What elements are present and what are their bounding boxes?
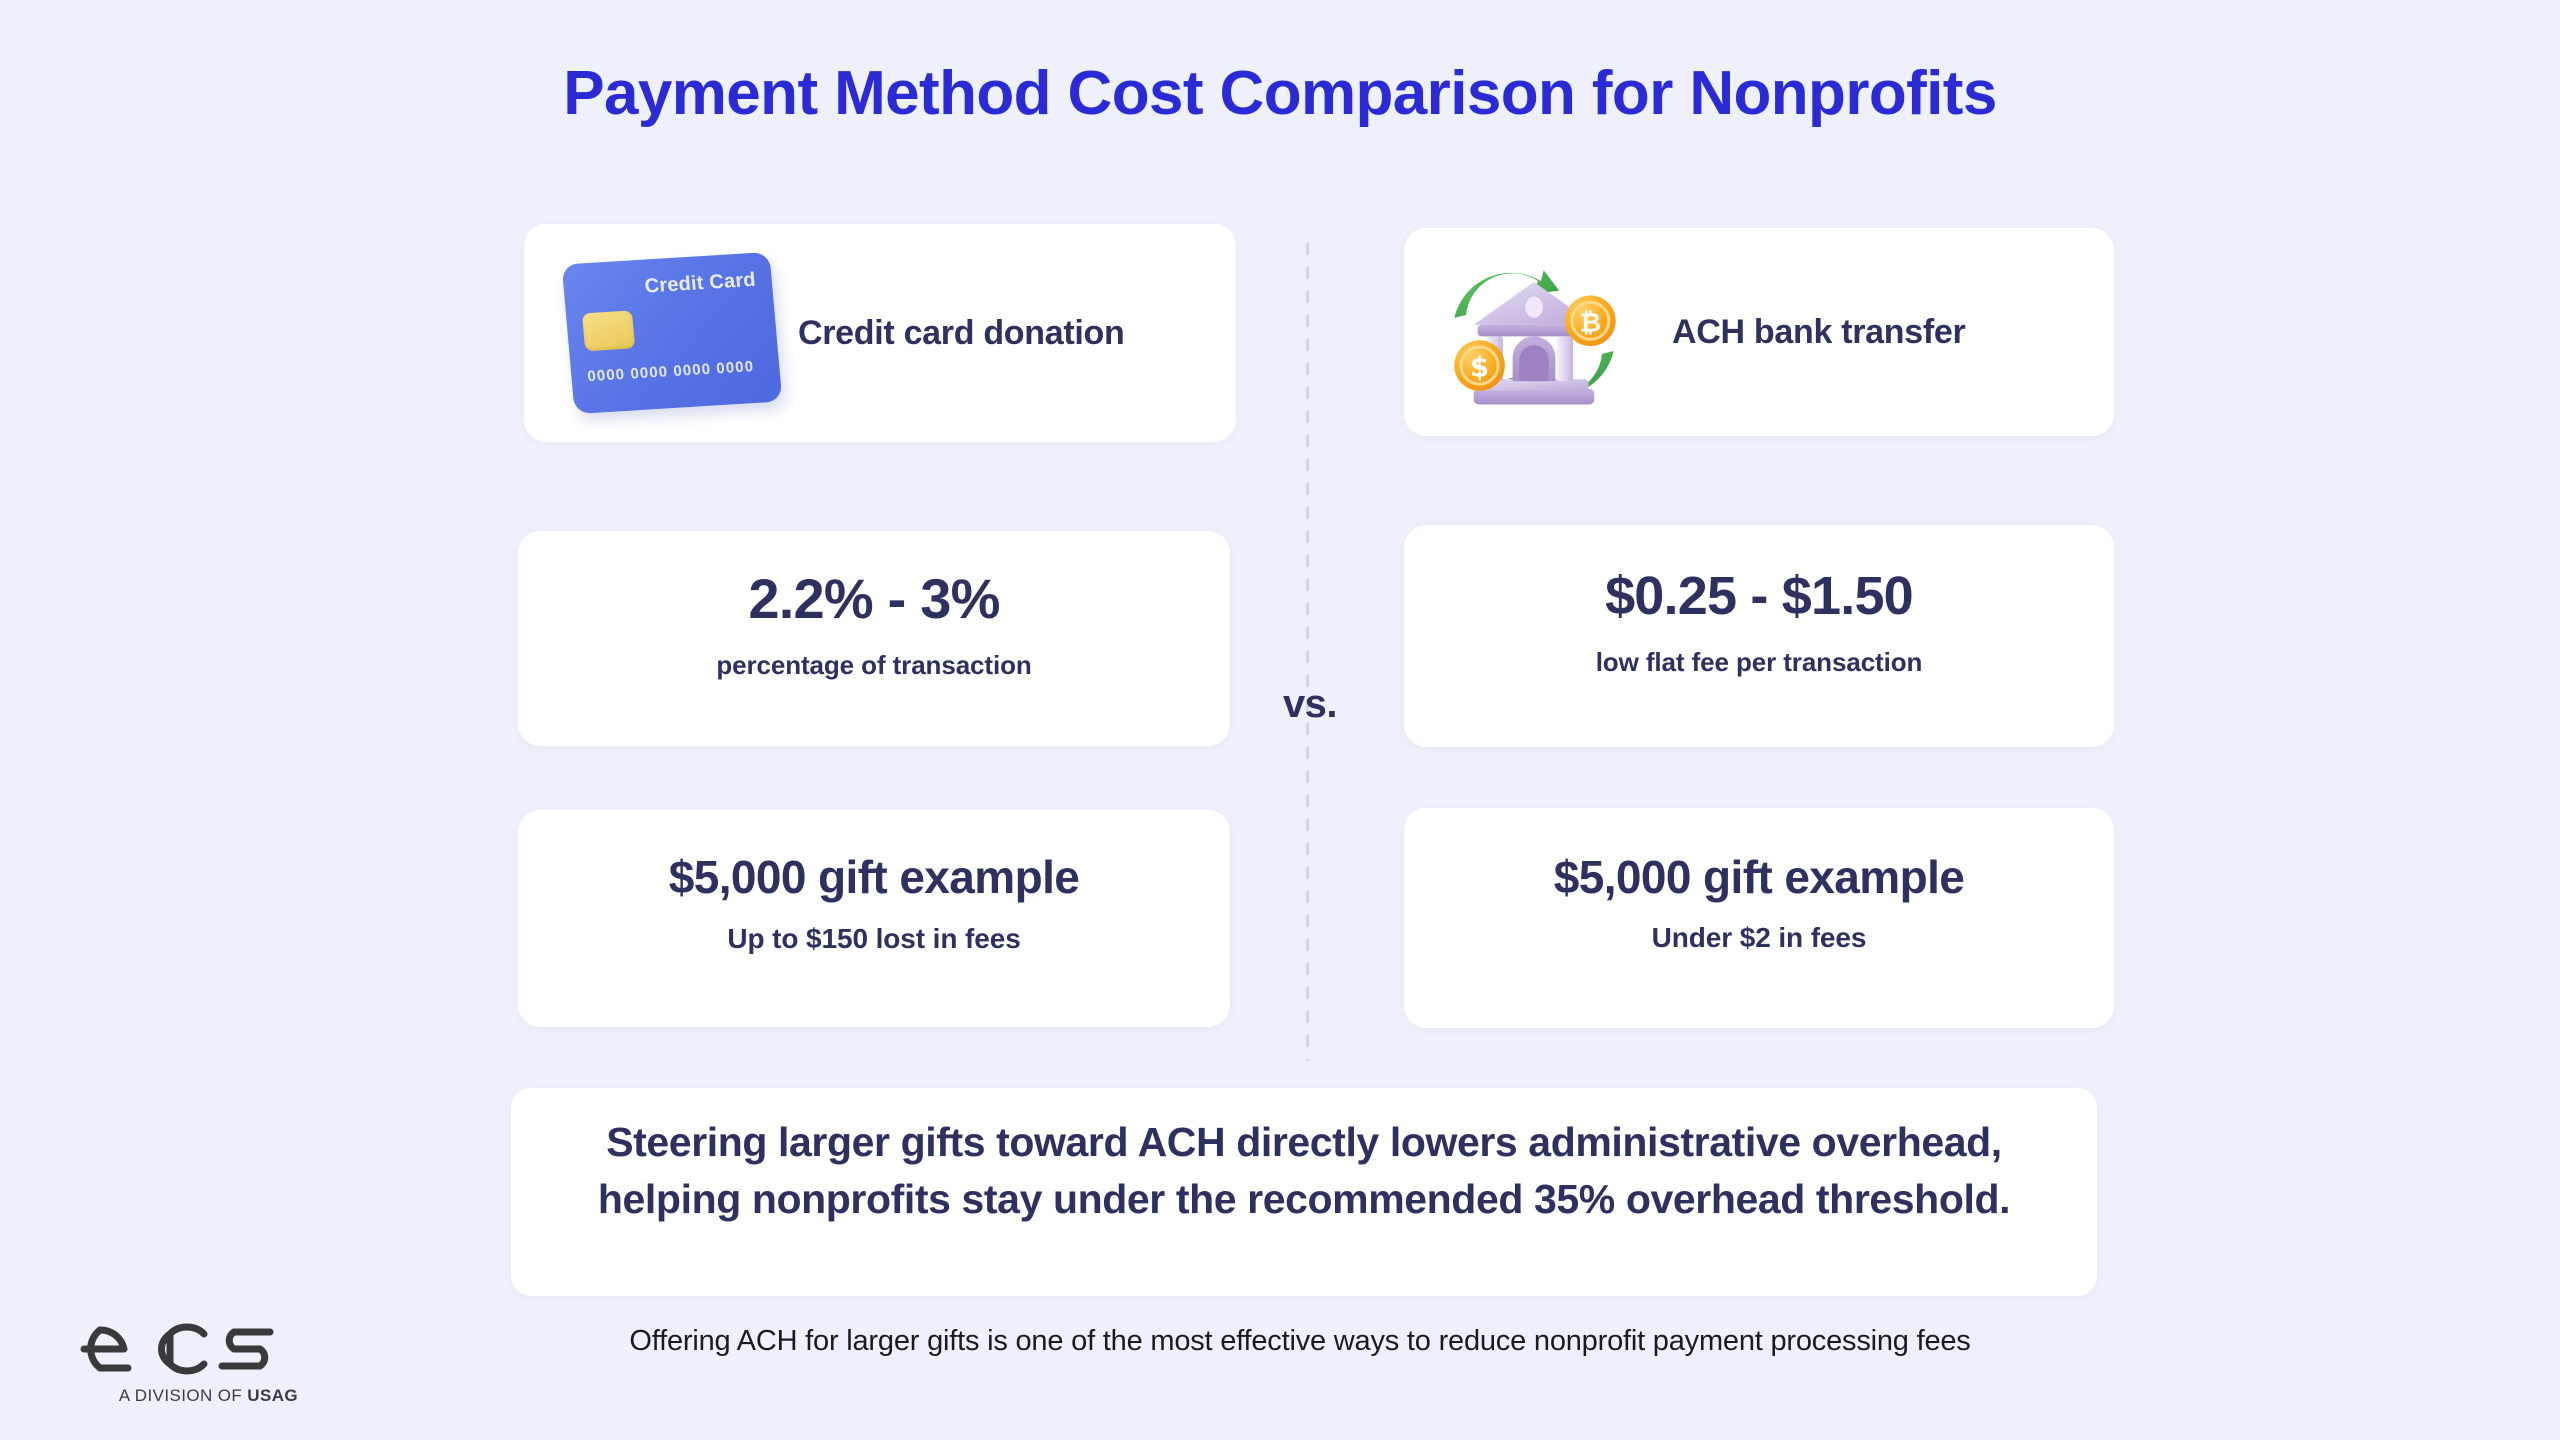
left-example-title: $5,000 gift example (669, 852, 1079, 903)
left-example-card: $5,000 gift example Up to $150 lost in f… (518, 810, 1230, 1027)
credit-card-brand-text: Credit Card (644, 268, 757, 298)
left-header-label: Credit card donation (798, 309, 1124, 357)
left-stat-caption: percentage of transaction (716, 650, 1031, 681)
right-header-label: ACH bank transfer (1672, 308, 1965, 356)
right-stat-card: $0.25 - $1.50 low flat fee per transacti… (1404, 525, 2114, 747)
credit-card-chip-icon (582, 310, 635, 351)
left-header-card: Credit Card 0000 0000 0000 0000 Credit c… (524, 224, 1236, 442)
vs-label: vs. (1230, 682, 1390, 727)
footer-caption: Offering ACH for larger gifts is one of … (400, 1325, 2200, 1358)
bank-transfer-icon: ₿ $ (1434, 245, 1634, 420)
bank-transfer-graphic: ₿ $ (1434, 245, 1634, 420)
infographic-canvas: Payment Method Cost Comparison for Nonpr… (0, 0, 2560, 1440)
right-example-title: $5,000 gift example (1554, 852, 1964, 903)
ecs-logo: A DIVISION OF USAG (62, 1318, 302, 1406)
right-header-card: ₿ $ ACH bank transfer (1404, 228, 2114, 436)
left-stat-card: 2.2% - 3% percentage of transaction (518, 531, 1230, 746)
credit-card-number-text: 0000 0000 0000 0000 (587, 358, 755, 385)
ecs-tagline-brand: USAG (247, 1386, 298, 1405)
ecs-tagline-prefix: A DIVISION OF (119, 1386, 247, 1405)
conclusion-card: Steering larger gifts toward ACH directl… (511, 1088, 2097, 1296)
credit-card-icon: Credit Card 0000 0000 0000 0000 (554, 246, 784, 421)
ecs-logo-tagline: A DIVISION OF USAG (62, 1386, 302, 1406)
right-example-subtitle: Under $2 in fees (1652, 922, 1867, 954)
left-example-subtitle: Up to $150 lost in fees (727, 923, 1020, 955)
svg-text:₿: ₿ (1580, 308, 1601, 338)
right-stat-caption: low flat fee per transaction (1596, 647, 1923, 678)
credit-card-graphic: Credit Card 0000 0000 0000 0000 (562, 251, 783, 413)
left-stat-value: 2.2% - 3% (748, 570, 999, 629)
ecs-wordmark-icon (62, 1318, 282, 1380)
vs-divider-line (1306, 243, 1309, 1061)
right-stat-value: $0.25 - $1.50 (1605, 568, 1913, 625)
conclusion-text: Steering larger gifts toward ACH directl… (511, 1088, 2097, 1227)
right-example-card: $5,000 gift example Under $2 in fees (1404, 808, 2114, 1028)
svg-text:$: $ (1470, 352, 1489, 383)
page-title: Payment Method Cost Comparison for Nonpr… (0, 60, 2560, 128)
